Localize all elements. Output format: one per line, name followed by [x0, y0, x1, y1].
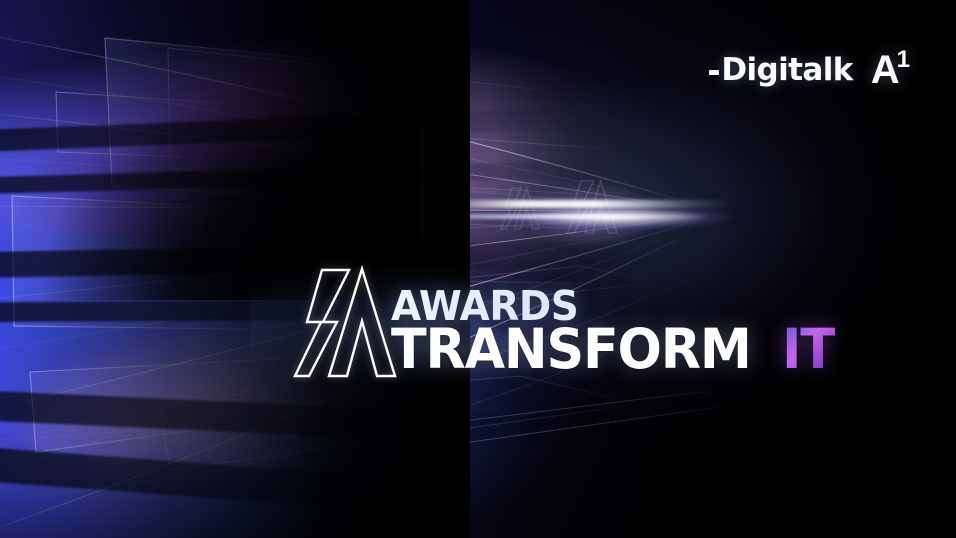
brand-bar: Digitalk A 1	[709, 50, 908, 90]
digitalk-logo[interactable]: Digitalk	[709, 55, 852, 86]
a1-letter: A	[871, 50, 898, 90]
title-main-line: TRANSFORM IT	[391, 322, 837, 377]
title-block: AWARDS TRANSFORM IT	[391, 288, 837, 377]
digitalk-wordmark: Digitalk	[721, 55, 852, 86]
a1-logo[interactable]: A 1	[871, 50, 908, 90]
promo-banner: Digitalk A 1 AWARDS TRANSFORM IT	[0, 0, 956, 538]
background-light-streak	[380, 214, 710, 219]
background-vanishing-point-glow	[500, 160, 800, 270]
ghost-a-mark-icon	[438, 190, 470, 226]
title-it-accent: IT	[782, 322, 835, 377]
background-dark-band	[0, 389, 600, 448]
title-transform: TRANSFORM	[391, 322, 751, 377]
awards-lockup: AWARDS TRANSFORM IT	[292, 262, 837, 382]
background-dark-band	[0, 105, 620, 152]
ghost-a-mark-icon	[566, 178, 618, 236]
ghost-a-mark-icon	[500, 186, 540, 231]
awards-a-mark-icon	[292, 264, 397, 382]
background-corner-falloff	[0, 0, 420, 300]
brand-dash-icon	[709, 70, 719, 75]
background-dark-band	[0, 446, 520, 521]
a1-superscript: 1	[897, 48, 908, 72]
background-dark-band	[0, 158, 660, 195]
